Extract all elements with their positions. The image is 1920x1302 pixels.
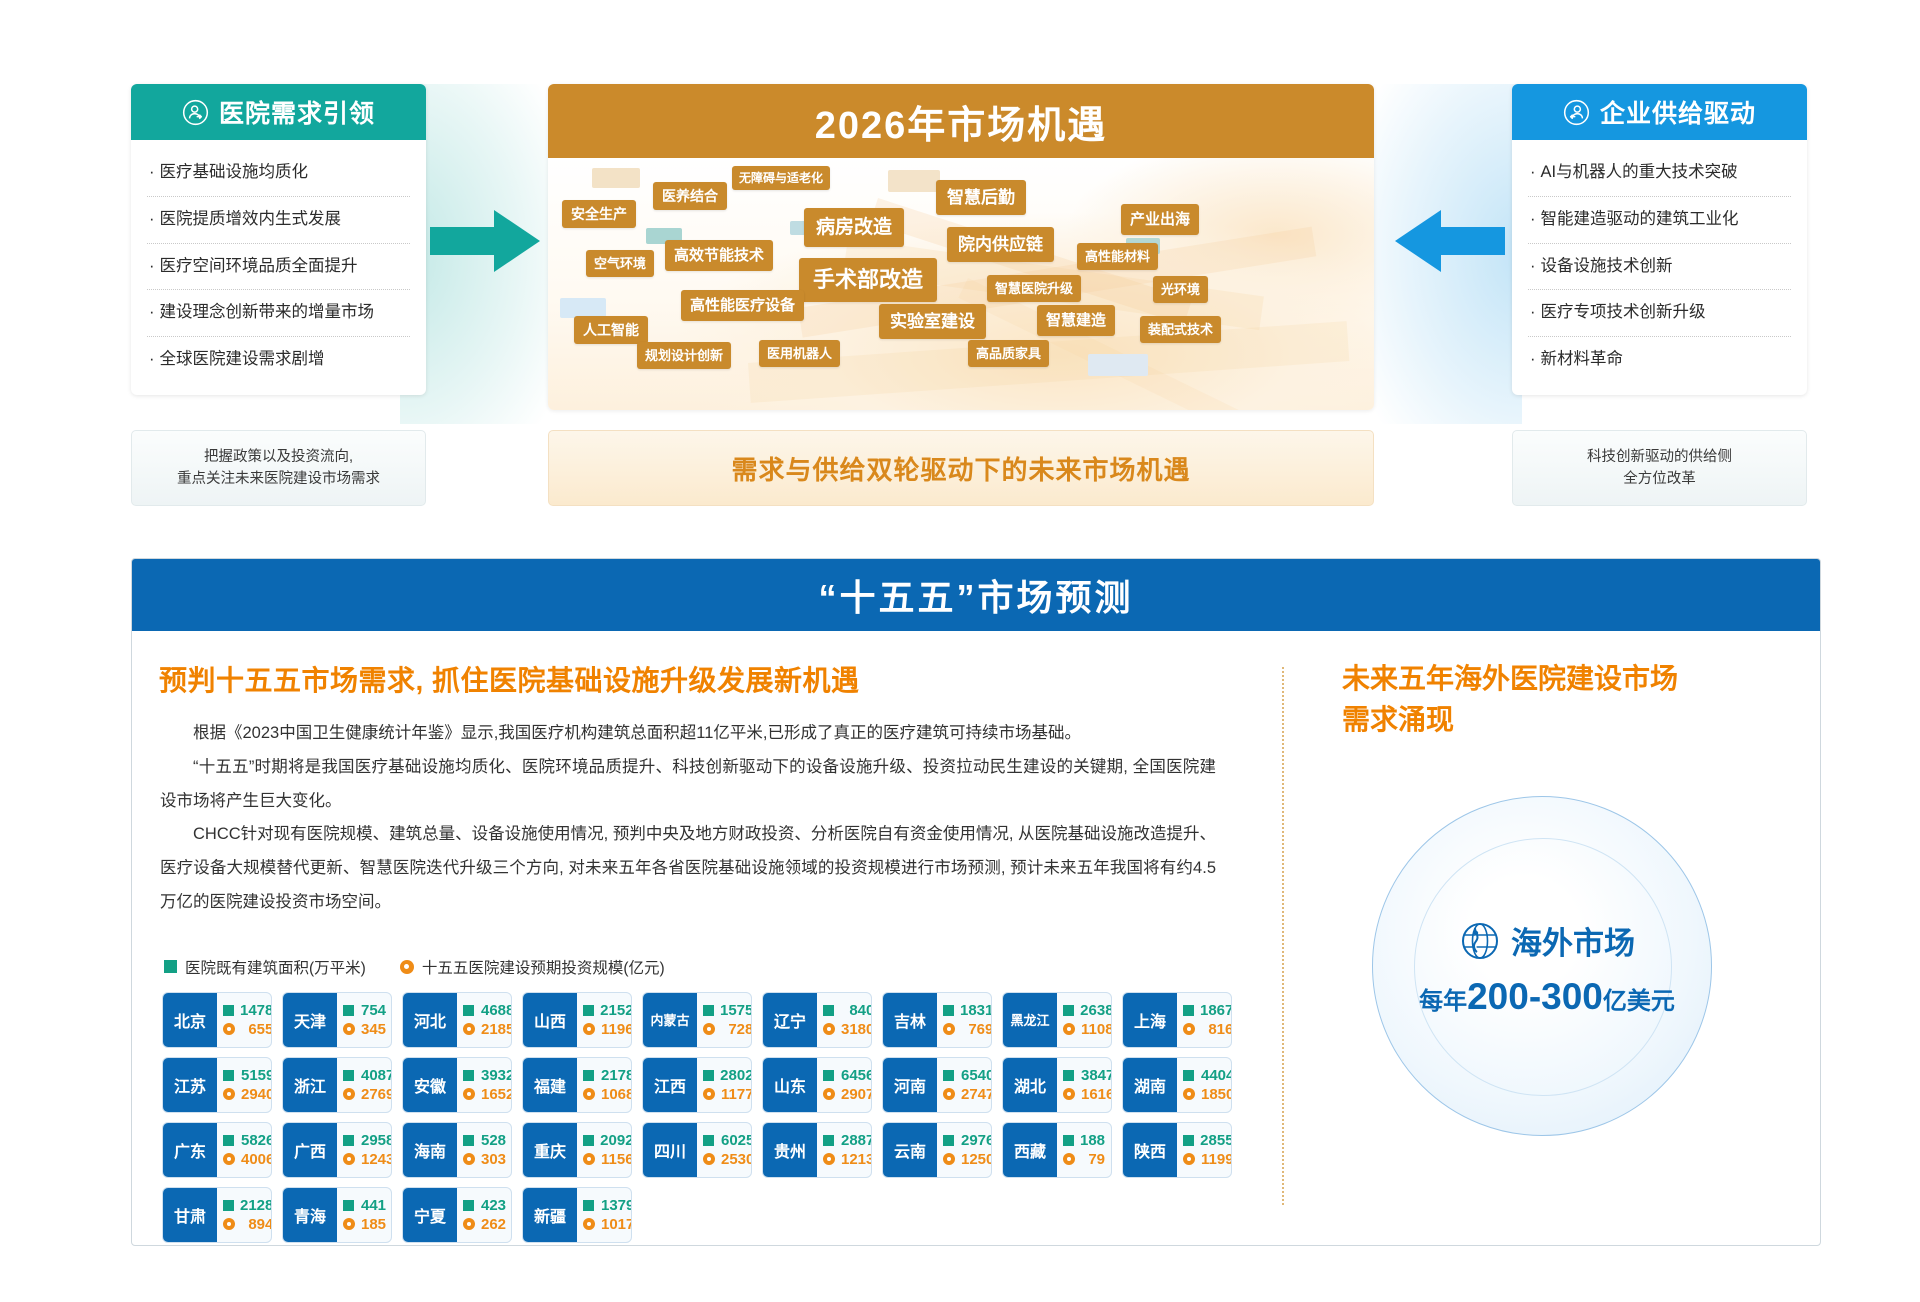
forecast-body: 预判十五五市场需求, 抓住医院基础设施升级发展新机遇 根据《2023中国卫生健康… — [132, 631, 1820, 1246]
province-invest-row: 2769 — [343, 1086, 392, 1103]
cloud-tag: 实验室建设 — [879, 304, 986, 339]
demand-item-0: ·医疗基础设施均质化 — [147, 150, 410, 197]
province-area-value: 6540 — [960, 1067, 992, 1084]
square-marker-icon — [463, 1070, 474, 1081]
province-card: 陕西28551199 — [1122, 1122, 1232, 1178]
bullet-icon: · — [1530, 210, 1536, 228]
province-area-row: 1379 — [583, 1197, 632, 1214]
circle-marker-icon — [343, 1088, 355, 1100]
province-area-row: 2976 — [943, 1132, 992, 1149]
cloud-tag: 院内供应链 — [947, 227, 1054, 262]
arrow-left-icon — [1395, 210, 1505, 272]
overseas-amount-suffix: 亿美元 — [1603, 988, 1675, 1015]
province-values: 38471616 — [1057, 1058, 1112, 1112]
province-area-value: 188 — [1080, 1132, 1105, 1149]
province-name: 江苏 — [163, 1058, 217, 1112]
province-values: 21781068 — [577, 1058, 632, 1112]
province-area-value: 6456 — [840, 1067, 872, 1084]
circle-marker-icon — [400, 960, 414, 974]
square-marker-icon — [943, 1135, 954, 1146]
province-area-value: 5826 — [240, 1132, 272, 1149]
province-name: 吉林 — [883, 993, 937, 1047]
province-invest-value: 303 — [481, 1151, 506, 1168]
square-marker-icon — [343, 1135, 354, 1146]
province-values: 58264006 — [217, 1123, 272, 1177]
market-opportunity-section: 医院需求引领 ·医疗基础设施均质化 ·医院提质增效内生式发展 ·医疗空间环境品质… — [0, 0, 1920, 540]
square-marker-icon — [223, 1135, 234, 1146]
right-caption-line1: 科技创新驱动的供给侧 — [1587, 446, 1732, 468]
overseas-circle-inner — [1414, 838, 1672, 1096]
province-invest-value: 1017 — [601, 1216, 632, 1233]
province-invest-value: 4006 — [241, 1151, 272, 1168]
square-marker-icon — [703, 1135, 714, 1146]
cloud-tag: 无障碍与适老化 — [732, 166, 830, 190]
province-name: 内蒙古 — [643, 993, 697, 1047]
forecast-right-column: 未来五年海外医院建设市场 需求涌现 海外市场 每年2 — [1312, 631, 1812, 1246]
square-marker-icon — [583, 1005, 594, 1016]
forecast-banner-title: “十五五”市场预测 — [132, 559, 1820, 631]
province-values: 1831769 — [937, 993, 992, 1047]
province-invest-row: 185 — [343, 1216, 386, 1233]
province-invest-row: 3180 — [823, 1021, 872, 1038]
square-marker-icon — [583, 1135, 594, 1146]
province-area-value: 528 — [480, 1132, 506, 1149]
province-invest-row: 2940 — [223, 1086, 272, 1103]
circle-marker-icon — [1063, 1153, 1075, 1165]
province-card: 河北46882185 — [402, 992, 512, 1048]
province-invest-row: 1017 — [583, 1216, 632, 1233]
province-invest-value: 2769 — [361, 1086, 392, 1103]
province-values: 39321652 — [457, 1058, 512, 1112]
circle-marker-icon — [463, 1088, 475, 1100]
enterprise-supply-title: 企业供给驱动 — [1600, 94, 1756, 130]
enterprise-supply-list: ·AI与机器人的重大技术突破 ·智能建造驱动的建筑工业化 ·设备设施技术创新 ·… — [1512, 140, 1807, 395]
province-invest-row: 303 — [463, 1151, 506, 1168]
province-invest-row: 4006 — [223, 1151, 272, 1168]
province-invest-row: 1156 — [583, 1151, 632, 1168]
province-area-value: 441 — [360, 1197, 386, 1214]
province-card: 江西28021177 — [642, 1057, 752, 1113]
legend-label-invest: 十五五医院建设预期投资规模(亿元) — [422, 956, 665, 978]
bullet-icon: · — [149, 210, 155, 228]
province-card: 内蒙古1575728 — [642, 992, 752, 1048]
hospital-demand-panel: 医院需求引领 ·医疗基础设施均质化 ·医院提质增效内生式发展 ·医疗空间环境品质… — [131, 84, 426, 395]
province-card: 四川60252530 — [642, 1122, 752, 1178]
province-area-value: 754 — [360, 1002, 386, 1019]
circle-marker-icon — [343, 1023, 355, 1035]
province-values: 46882185 — [457, 993, 512, 1047]
province-invest-row: 1196 — [583, 1021, 632, 1038]
province-card: 福建21781068 — [522, 1057, 632, 1113]
forecast-paragraph-0: 根据《2023中国卫生健康统计年鉴》显示,我国医疗机构建筑总面积超11亿平米,已… — [160, 717, 1216, 751]
province-invest-row: 894 — [223, 1216, 272, 1233]
province-area-row: 754 — [343, 1002, 386, 1019]
province-values: 1575728 — [697, 993, 752, 1047]
province-name: 浙江 — [283, 1058, 337, 1112]
province-values: 65402747 — [937, 1058, 992, 1112]
province-card: 湖北38471616 — [1002, 1057, 1112, 1113]
province-name: 河北 — [403, 993, 457, 1047]
province-name: 湖南 — [1123, 1058, 1177, 1112]
overseas-market-label-row: 海外市场 — [1352, 918, 1742, 963]
cloud-tag: 空气环境 — [586, 250, 654, 277]
circle-marker-icon — [343, 1218, 355, 1230]
province-name: 上海 — [1123, 993, 1177, 1047]
province-invest-value: 1108 — [1081, 1021, 1112, 1038]
province-card: 山西21521196 — [522, 992, 632, 1048]
province-invest-value: 1250 — [961, 1151, 992, 1168]
province-card: 海南528303 — [402, 1122, 512, 1178]
province-invest-row: 2907 — [823, 1086, 872, 1103]
supply-item-1: ·智能建造驱动的建筑工业化 — [1528, 197, 1791, 244]
enterprise-supply-header: 企业供给驱动 — [1512, 84, 1807, 140]
province-invest-value: 2530 — [721, 1151, 752, 1168]
province-invest-row: 345 — [343, 1021, 386, 1038]
cloud-tag: 高性能医疗设备 — [681, 290, 804, 321]
province-values: 28021177 — [697, 1058, 752, 1112]
hospital-demand-list: ·医疗基础设施均质化 ·医院提质增效内生式发展 ·医疗空间环境品质全面提升 ·建… — [131, 140, 426, 395]
circle-marker-icon — [223, 1023, 235, 1035]
overseas-circle: 海外市场 每年200-300亿美元 — [1352, 786, 1752, 1186]
province-area-row: 1831 — [943, 1002, 992, 1019]
province-area-value: 5159 — [240, 1067, 272, 1084]
circle-marker-icon — [943, 1088, 955, 1100]
circle-marker-icon — [703, 1088, 715, 1100]
province-card: 上海1867816 — [1122, 992, 1232, 1048]
province-area-row: 5826 — [223, 1132, 272, 1149]
province-name: 福建 — [523, 1058, 577, 1112]
forecast-section: “十五五”市场预测 预判十五五市场需求, 抓住医院基础设施升级发展新机遇 根据《… — [131, 558, 1821, 1246]
province-invest-value: 1199 — [1201, 1151, 1232, 1168]
legend-label-area: 医院既有建筑面积(万平米) — [185, 956, 366, 978]
square-marker-icon — [703, 1005, 714, 1016]
province-area-row: 3847 — [1063, 1067, 1112, 1084]
province-area-row: 4404 — [1183, 1067, 1232, 1084]
province-name: 山西 — [523, 993, 577, 1047]
province-invest-row: 816 — [1183, 1021, 1232, 1038]
province-area-row: 2638 — [1063, 1002, 1112, 1019]
province-card: 天津754345 — [282, 992, 392, 1048]
market-opportunity-card: 2026年市场机遇 安全生产医养结合无障碍与适老化智慧后勤产业出海病房改造空气环… — [548, 84, 1374, 410]
left-caption: 把握政策以及投资流向, 重点关注未来医院建设市场需求 — [131, 430, 426, 506]
province-values: 21521196 — [577, 993, 632, 1047]
province-invest-row: 1108 — [1063, 1021, 1112, 1038]
province-invest-value: 1652 — [481, 1086, 512, 1103]
circle-marker-icon — [463, 1153, 475, 1165]
province-values: 8403180 — [817, 993, 872, 1047]
province-invest-row: 1177 — [703, 1086, 752, 1103]
cloud-tag: 手术部改造 — [799, 258, 937, 302]
province-values: 423262 — [457, 1188, 512, 1242]
province-area-row: 4688 — [463, 1002, 512, 1019]
square-marker-icon — [1183, 1005, 1194, 1016]
province-card: 湖南44041850 — [1122, 1057, 1232, 1113]
province-area-row: 423 — [463, 1197, 506, 1214]
chart-legend: 医院既有建筑面积(万平米) 十五五医院建设预期投资规模(亿元) — [132, 920, 1272, 978]
cloud-tag: 医用机器人 — [759, 340, 840, 367]
bullet-icon: · — [1530, 350, 1536, 368]
cloud-tag: 产业出海 — [1121, 204, 1199, 235]
right-caption-line2: 全方位改革 — [1623, 468, 1696, 490]
square-marker-icon — [943, 1070, 954, 1081]
province-invest-row: 2747 — [943, 1086, 992, 1103]
left-caption-line1: 把握政策以及投资流向, — [204, 446, 353, 468]
province-invest-value: 79 — [1081, 1151, 1105, 1168]
province-area-row: 1575 — [703, 1002, 752, 1019]
province-invest-value: 1243 — [361, 1151, 392, 1168]
bullet-icon: · — [149, 350, 155, 368]
province-card: 安徽39321652 — [402, 1057, 512, 1113]
province-name: 海南 — [403, 1123, 457, 1177]
bullet-icon: · — [1530, 303, 1536, 321]
province-invest-row: 1652 — [463, 1086, 512, 1103]
province-name: 湖北 — [1003, 1058, 1057, 1112]
province-values: 29581243 — [337, 1123, 392, 1177]
supply-item-0: ·AI与机器人的重大技术突破 — [1528, 150, 1791, 197]
province-area-row: 5159 — [223, 1067, 272, 1084]
demand-item-1-label: 医院提质增效内生式发展 — [160, 210, 342, 228]
province-values: 64562907 — [817, 1058, 872, 1112]
cloud-tag: 智慧医院升级 — [987, 275, 1081, 302]
circle-marker-icon — [463, 1218, 475, 1230]
province-invest-row: 769 — [943, 1021, 992, 1038]
province-area-value: 2802 — [720, 1067, 752, 1084]
province-values: 51592940 — [217, 1058, 272, 1112]
circle-marker-icon — [463, 1023, 475, 1035]
province-values: 29761250 — [937, 1123, 992, 1177]
province-area-value: 423 — [480, 1197, 506, 1214]
province-invest-value: 2940 — [241, 1086, 272, 1103]
province-invest-row: 655 — [223, 1021, 272, 1038]
province-values: 44041850 — [1177, 1058, 1232, 1112]
province-area-value: 3932 — [480, 1067, 512, 1084]
supply-item-2: ·设备设施技术创新 — [1528, 244, 1791, 291]
arrow-right-icon — [430, 210, 540, 272]
province-invest-value: 894 — [241, 1216, 272, 1233]
province-invest-row: 262 — [463, 1216, 506, 1233]
square-marker-icon — [1063, 1005, 1074, 1016]
supply-item-0-label: AI与机器人的重大技术突破 — [1541, 163, 1738, 181]
province-values: 18879 — [1057, 1123, 1112, 1177]
circle-marker-icon — [223, 1218, 235, 1230]
province-invest-value: 2747 — [961, 1086, 992, 1103]
province-area-value: 1575 — [720, 1002, 752, 1019]
demand-item-0-label: 医疗基础设施均质化 — [160, 163, 309, 181]
province-invest-row: 1850 — [1183, 1086, 1232, 1103]
overseas-amount-value: 200-300 — [1467, 976, 1603, 1017]
bullet-icon: · — [149, 163, 155, 181]
enterprise-supply-panel: 企业供给驱动 ·AI与机器人的重大技术突破 ·智能建造驱动的建筑工业化 ·设备设… — [1512, 84, 1807, 395]
province-area-value: 4688 — [480, 1002, 512, 1019]
supply-item-4-label: 新材料革命 — [1541, 350, 1624, 368]
square-marker-icon — [223, 1005, 234, 1016]
province-area-value: 1478 — [240, 1002, 272, 1019]
square-marker-icon — [823, 1070, 834, 1081]
province-area-row: 2958 — [343, 1132, 392, 1149]
cloud-tag: 高效节能技术 — [665, 240, 773, 271]
province-invest-value: 1177 — [721, 1086, 752, 1103]
province-name: 重庆 — [523, 1123, 577, 1177]
province-invest-value: 1213 — [841, 1151, 872, 1168]
province-name: 新疆 — [523, 1188, 577, 1242]
square-marker-icon — [943, 1005, 954, 1016]
opportunity-word-cloud: 安全生产医养结合无障碍与适老化智慧后勤产业出海病房改造空气环境高效节能技术院内供… — [548, 158, 1374, 410]
circle-marker-icon — [583, 1218, 595, 1230]
province-invest-value: 1068 — [601, 1086, 632, 1103]
circle-marker-icon — [1063, 1023, 1075, 1035]
circle-marker-icon — [1183, 1088, 1195, 1100]
center-caption: 需求与供给双轮驱动下的未来市场机遇 — [548, 430, 1374, 506]
province-area-row: 528 — [463, 1132, 506, 1149]
province-area-value: 1379 — [600, 1197, 632, 1214]
province-invest-row: 1068 — [583, 1086, 632, 1103]
province-values: 441185 — [337, 1188, 392, 1242]
cloud-tag: 高性能材料 — [1077, 243, 1158, 270]
province-card: 贵州28871213 — [762, 1122, 872, 1178]
province-name: 甘肃 — [163, 1188, 217, 1242]
province-values: 28871213 — [817, 1123, 872, 1177]
province-values: 26381108 — [1057, 993, 1112, 1047]
province-name: 四川 — [643, 1123, 697, 1177]
demand-item-2-label: 医疗空间环境品质全面提升 — [160, 257, 358, 275]
province-invest-row: 2185 — [463, 1021, 512, 1038]
province-area-row: 2887 — [823, 1132, 872, 1149]
province-values: 13791017 — [577, 1188, 632, 1242]
demand-item-4-label: 全球医院建设需求剧增 — [160, 350, 325, 368]
square-marker-icon — [1183, 1070, 1194, 1081]
circle-marker-icon — [703, 1153, 715, 1165]
left-caption-line2: 重点关注未来医院建设市场需求 — [177, 468, 380, 490]
province-card: 宁夏423262 — [402, 1187, 512, 1243]
province-name: 江西 — [643, 1058, 697, 1112]
bullet-icon: · — [1530, 257, 1536, 275]
square-marker-icon — [343, 1200, 354, 1211]
decor-block-blue-2 — [1088, 354, 1148, 376]
circle-marker-icon — [223, 1153, 235, 1165]
square-marker-icon — [463, 1005, 474, 1016]
province-area-value: 2092 — [600, 1132, 632, 1149]
province-area-value: 2128 — [240, 1197, 272, 1214]
circle-marker-icon — [823, 1088, 835, 1100]
province-area-value: 840 — [840, 1002, 872, 1019]
square-marker-icon — [703, 1070, 714, 1081]
province-data-grid: 北京1478655天津754345河北46882185山西21521196内蒙古… — [132, 978, 1272, 1243]
province-area-row: 2128 — [223, 1197, 272, 1214]
province-area-row: 2152 — [583, 1002, 632, 1019]
province-area-value: 1831 — [960, 1002, 992, 1019]
province-name: 辽宁 — [763, 993, 817, 1047]
cloud-tag: 装配式技术 — [1140, 316, 1221, 343]
province-invest-value: 2907 — [841, 1086, 872, 1103]
province-card: 浙江40872769 — [282, 1057, 392, 1113]
circle-marker-icon — [583, 1088, 595, 1100]
circle-marker-icon — [943, 1153, 955, 1165]
overseas-title-line1: 未来五年海外医院建设市场 — [1342, 659, 1812, 700]
province-area-row: 4087 — [343, 1067, 392, 1084]
province-values: 20921156 — [577, 1123, 632, 1177]
square-marker-icon — [343, 1070, 354, 1081]
overseas-amount-prefix: 每年 — [1419, 988, 1467, 1015]
province-area-value: 6025 — [720, 1132, 752, 1149]
province-area-value: 4404 — [1200, 1067, 1232, 1084]
province-card: 青海441185 — [282, 1187, 392, 1243]
province-area-value: 1867 — [1200, 1002, 1232, 1019]
province-area-row: 441 — [343, 1197, 386, 1214]
province-card: 江苏51592940 — [162, 1057, 272, 1113]
province-name: 西藏 — [1003, 1123, 1057, 1177]
province-area-value: 2887 — [840, 1132, 872, 1149]
square-marker-icon — [223, 1070, 234, 1081]
province-values: 2128894 — [217, 1188, 272, 1242]
square-marker-icon — [1063, 1070, 1074, 1081]
province-area-row: 1478 — [223, 1002, 272, 1019]
forecast-left-column: 预判十五五市场需求, 抓住医院基础设施升级发展新机遇 根据《2023中国卫生健康… — [132, 631, 1272, 1243]
forecast-left-title: 预判十五五市场需求, 抓住医院基础设施升级发展新机遇 — [132, 631, 1272, 699]
province-area-row: 6456 — [823, 1067, 872, 1084]
forecast-paragraph-1: “十五五”时期将是我国医疗基础设施均质化、医院环境品质提升、科技创新驱动下的设备… — [160, 751, 1216, 819]
right-caption: 科技创新驱动的供给侧 全方位改革 — [1512, 430, 1807, 506]
province-area-value: 2958 — [360, 1132, 392, 1149]
overseas-market-label: 海外市场 — [1511, 918, 1635, 963]
province-area-value: 2178 — [600, 1067, 632, 1084]
cloud-tag: 规划设计创新 — [637, 342, 731, 369]
square-marker-icon — [823, 1135, 834, 1146]
province-name: 广西 — [283, 1123, 337, 1177]
province-invest-row: 1213 — [823, 1151, 872, 1168]
cloud-tag: 安全生产 — [562, 200, 636, 228]
province-invest-value: 3180 — [841, 1021, 872, 1038]
province-invest-value: 262 — [481, 1216, 506, 1233]
overseas-amount: 每年200-300亿美元 — [1352, 976, 1742, 1018]
province-values: 60252530 — [697, 1123, 752, 1177]
province-area-row: 1867 — [1183, 1002, 1232, 1019]
cloud-tag: 人工智能 — [574, 316, 648, 344]
province-area-row: 6540 — [943, 1067, 992, 1084]
demand-item-3: ·建设理念创新带来的增量市场 — [147, 290, 410, 337]
province-invest-value: 1616 — [1081, 1086, 1112, 1103]
supply-item-3-label: 医疗专项技术创新升级 — [1541, 303, 1706, 321]
hospital-demand-title: 医院需求引领 — [219, 94, 375, 130]
province-name: 黑龙江 — [1003, 993, 1057, 1047]
bullet-icon: · — [149, 257, 155, 275]
globe-location-icon — [1459, 920, 1501, 962]
province-invest-row: 2530 — [703, 1151, 752, 1168]
province-invest-row: 1199 — [1183, 1151, 1232, 1168]
person-supply-icon — [1563, 99, 1590, 126]
bullet-icon: · — [149, 303, 155, 321]
cloud-tag: 光环境 — [1153, 276, 1208, 303]
square-marker-icon — [164, 960, 177, 973]
province-name: 青海 — [283, 1188, 337, 1242]
cloud-tag: 高品质家具 — [968, 340, 1049, 367]
supply-item-1-label: 智能建造驱动的建筑工业化 — [1541, 210, 1739, 228]
circle-marker-icon — [943, 1023, 955, 1035]
square-marker-icon — [223, 1200, 234, 1211]
province-area-value: 2855 — [1200, 1132, 1232, 1149]
cloud-tag: 病房改造 — [804, 208, 904, 247]
hospital-demand-header: 医院需求引领 — [131, 84, 426, 140]
square-marker-icon — [823, 1005, 834, 1016]
square-marker-icon — [1183, 1135, 1194, 1146]
province-name: 天津 — [283, 993, 337, 1047]
supply-item-2-label: 设备设施技术创新 — [1541, 257, 1673, 275]
province-area-row: 2802 — [703, 1067, 752, 1084]
legend-item-invest: 十五五医院建设预期投资规模(亿元) — [400, 956, 665, 978]
supply-item-4: ·新材料革命 — [1528, 337, 1791, 383]
province-card: 云南29761250 — [882, 1122, 992, 1178]
province-invest-value: 1156 — [601, 1151, 632, 1168]
province-name: 山东 — [763, 1058, 817, 1112]
